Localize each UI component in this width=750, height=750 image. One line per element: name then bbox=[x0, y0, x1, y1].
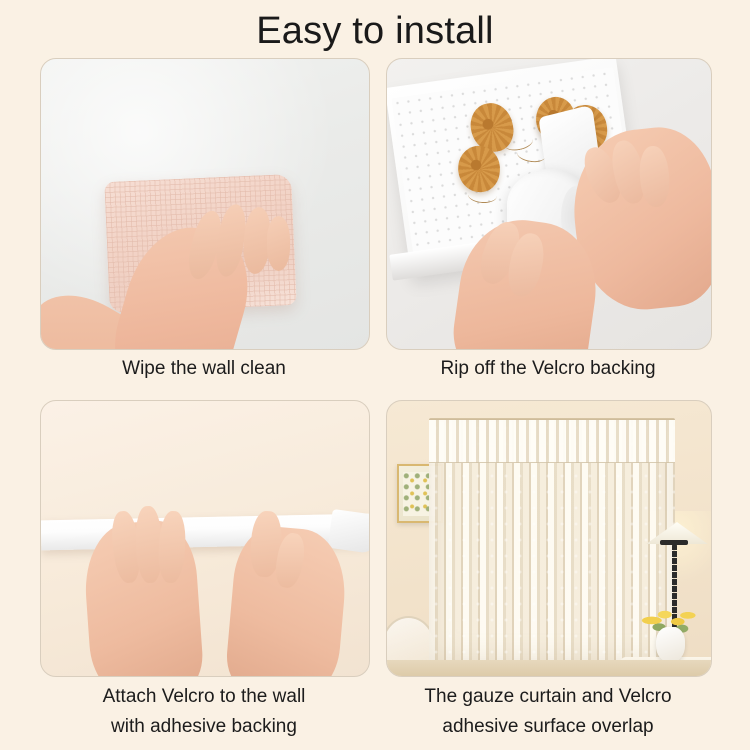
step-1-cell bbox=[40, 58, 368, 348]
caption-line: Attach Velcro to the wall bbox=[40, 682, 368, 712]
caption-line: Rip off the Velcro backing bbox=[386, 354, 710, 384]
step-4-image bbox=[386, 400, 712, 677]
step-3-image bbox=[40, 400, 370, 677]
twig bbox=[467, 186, 497, 203]
step-1-caption: Wipe the wall clean bbox=[40, 354, 368, 384]
step-4-cell bbox=[386, 400, 710, 675]
vase bbox=[656, 627, 685, 663]
caption-line: The gauze curtain and Velcro bbox=[386, 682, 710, 712]
step-3-cell bbox=[40, 400, 368, 675]
caption-line: Wipe the wall clean bbox=[40, 354, 368, 384]
step-2-image bbox=[386, 58, 712, 350]
floor bbox=[387, 660, 711, 677]
step-4-caption: The gauze curtain and Velcro adhesive su… bbox=[386, 682, 710, 742]
finger bbox=[267, 216, 290, 271]
step-2-cell bbox=[386, 58, 710, 348]
step-1-image bbox=[40, 58, 370, 350]
curtain-valance bbox=[429, 420, 675, 462]
step-3-caption: Attach Velcro to the wall with adhesive … bbox=[40, 682, 368, 742]
product-instruction-graphic: Easy to install Wipe the wall clean bbox=[0, 0, 750, 750]
page-title: Easy to install bbox=[0, 10, 750, 53]
caption-line: adhesive surface overlap bbox=[386, 712, 710, 742]
caption-line: with adhesive backing bbox=[40, 712, 368, 742]
step-2-caption: Rip off the Velcro backing bbox=[386, 354, 710, 384]
